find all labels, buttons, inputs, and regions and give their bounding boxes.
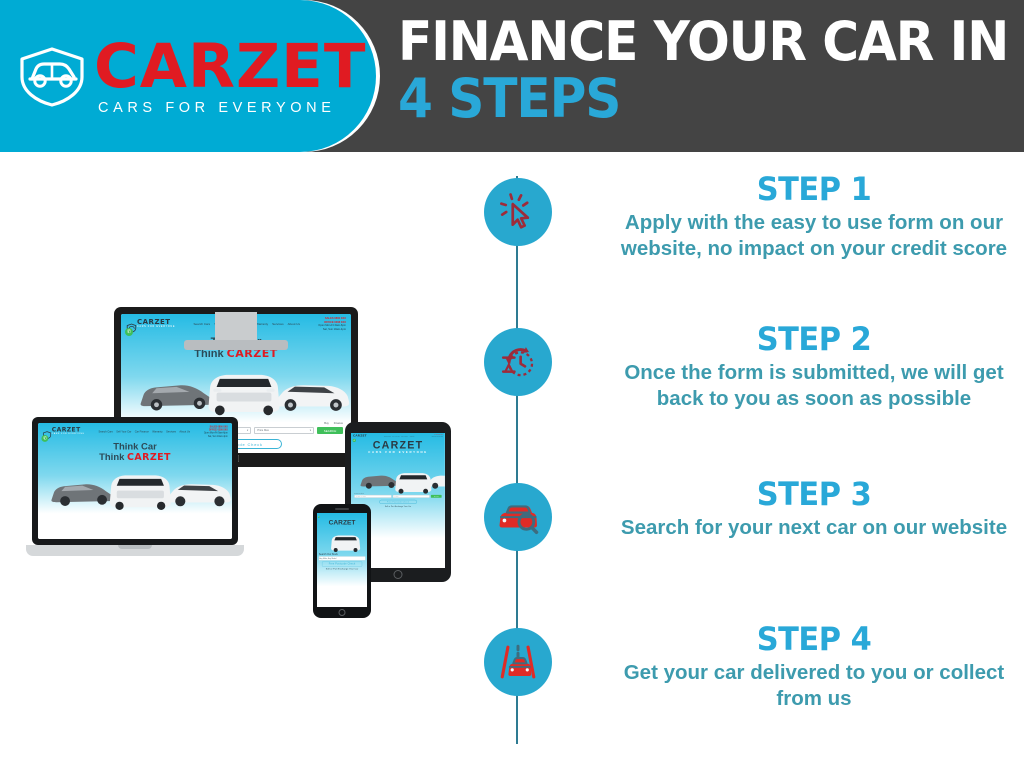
site-hours-weekday: Open Mon-Fri 9am-6pm [432,436,443,437]
step-4-badge [484,628,552,696]
site-logo: CARZET CARS FOR EVERYONE [42,428,84,436]
step-4-heading: STEP 4 [615,622,1014,657]
carzet-website-phone: ✆ CARZET Search Our Stock [317,513,367,607]
sell-part-exchange-link[interactable]: Sell or Part Exchange Your Car [317,568,367,570]
step-item: STEP 2 Once the form is submitted, we wi… [456,322,1024,413]
site-hero-accent: CARZET [127,451,171,462]
whatsapp-icon[interactable]: ✆ [353,439,356,442]
site-nav-item[interactable]: Sell Your Car [116,430,131,433]
site-hero-cars [121,362,351,416]
site-logo: CARZET [353,434,367,437]
brand-name: CARZET [94,38,366,96]
site-contact-block: SALES 0800 XXX OFFICE 0208 XXX Open Mon-… [204,426,228,438]
step-1-text: STEP 1 Apply with the easy to use form o… [604,172,1024,263]
site-logo-shield-icon [42,428,50,435]
car-white-suv [195,366,293,416]
site-nav-item[interactable]: Search Cars [194,322,211,326]
step-item: STEP 1 Apply with the easy to use form o… [456,172,1024,263]
car-in-shield-icon [14,43,90,109]
search-button[interactable]: SEARCH [431,495,442,498]
site-logo: CARZET CARS FOR EVERYONE [126,319,175,328]
car-white-suv [98,468,182,511]
steps-list: STEP 1 Apply with the easy to use form o… [456,152,1024,768]
site-logo-name: CARZET [353,434,367,437]
site-nav-item[interactable]: Warranty [410,435,415,437]
site-nav-item[interactable]: Car Finance [135,430,149,433]
step-1-heading: STEP 1 [615,172,1014,207]
laptop-mockup: ✆ CARZET [32,417,250,557]
site-logo-tagline: CARS FOR EVERYONE [137,326,175,328]
search-make-model-field[interactable]: Any Make, Any Model [319,556,366,560]
search-make-model-field[interactable]: Any Make, Any Model [354,495,391,498]
car-white-suv [389,469,438,494]
step-2-heading: STEP 2 [615,322,1014,357]
site-nav-item[interactable]: Sell Your Car [392,435,399,437]
step-1-badge [484,178,552,246]
site-hero-cars [351,455,445,492]
site-nav-item[interactable]: About Us [288,322,300,326]
monitor-stand-base [184,340,288,350]
carzet-website-laptop: ✆ CARZET [38,423,232,539]
phone-logo-name: CARZET [317,519,367,526]
step-item: STEP 3 Search for your next car on our w… [456,477,1024,541]
site-nav-item[interactable]: Search Cars [98,430,112,433]
laptop-lid: ✆ CARZET [32,417,238,545]
cursor-click-icon [497,191,539,233]
brand-panel: CARZET CARS FOR EVERYONE [0,0,376,152]
device-mockups: ✆ CARZET [0,152,470,768]
site-hero-line2: Think CARZET [38,452,232,462]
postcode-check-button[interactable]: Free Postcode Check [379,500,417,504]
site-nav-item[interactable]: Services [272,322,284,326]
site-hero: CARZET [317,519,367,526]
site-search-bar[interactable]: Any Make, Any Model Any Price SEARCH [351,495,445,498]
tablet-home-button[interactable] [394,570,403,579]
step-2-badge [484,328,552,396]
toggle-buy[interactable]: Buy [324,422,328,425]
car-search-icon [496,498,540,537]
site-nav-item[interactable]: Services [166,430,176,433]
search-button[interactable]: SEARCH [317,427,343,434]
site-hero: Think Car Think CARZET [38,442,232,463]
postcode-check-button[interactable]: Free Postcode Check [322,561,362,566]
step-2-text: STEP 2 Once the form is submitted, we wi… [604,322,1024,413]
car-white-suv [326,532,366,553]
site-hours-weekend: Sat, Sun 10am-4pm [204,435,228,438]
header-title-line1: FINANCE YOUR CAR IN [398,16,971,69]
brand-text: CARZET CARS FOR EVERYONE [94,36,366,117]
whatsapp-icon[interactable]: ✆ [125,328,133,336]
site-hours-weekend: Sat, Sun 10am-4pm [318,328,346,332]
step-4-description: Get your car delivered to you or collect… [604,660,1024,712]
step-3-badge [484,483,552,551]
header-banner: CARZET CARS FOR EVERYONE FINANCE YOUR CA… [0,0,1024,152]
site-topbar: CARZET Search Cars Sell Your Car Car Fin… [351,433,445,437]
header-title-line2: 4 STEPS [398,73,971,126]
brand-tagline: CARS FOR EVERYONE [94,100,335,116]
tablet-logo-tagline: CARS FOR EVERYONE [351,451,445,454]
tablet-logo-name: CARZET [351,439,445,451]
site-nav-item[interactable]: Car Finance [401,435,408,437]
step-3-text: STEP 3 Search for your next car on our w… [604,477,1024,541]
search-price-max-field[interactable]: Price Max▾ [254,427,314,434]
site-nav-item[interactable]: Search Cars [384,435,391,437]
site-hero-cars [38,464,232,510]
site-nav-item[interactable]: Warranty [256,322,268,326]
step-item: STEP 4 Get your car delivered to you or … [456,622,1024,713]
laptop-trackpad-notch [118,545,152,549]
phone-screen: ✆ CARZET Search Our Stock [317,513,367,607]
step-2-description: Once the form is submitted, we will get … [604,360,1024,412]
page-title: FINANCE YOUR CAR IN 4 STEPS [398,16,1014,126]
phone-speaker [335,508,349,510]
infographic-page: CARZET CARS FOR EVERYONE FINANCE YOUR CA… [0,0,1024,768]
site-search-bar[interactable]: Any Make, Any Model [317,556,367,560]
site-hours-weekday: Open Mon-Fri 9am-6pm [318,324,346,328]
site-contact-block: SALES 0800 XXX OFFICE 0208 XXX Open Mon-… [318,317,346,331]
site-topbar: CARZET CARS FOR EVERYONE Search Cars Sel… [38,423,232,438]
smartphone-mockup: ✆ CARZET Search Our Stock [313,504,371,618]
site-nav-item[interactable]: Warranty [152,430,162,433]
site-logo-tagline: CARS FOR EVERYONE [52,434,85,436]
monitor-stand-neck [215,312,257,340]
site-nav[interactable]: Search Cars Sell Your Car Car Finance Wa… [384,435,415,437]
site-nav[interactable]: Search Cars Sell Your Car Car Finance Wa… [98,430,190,433]
body-area: ✆ CARZET [0,152,1024,768]
site-logo-shield-icon [126,320,135,328]
site-hero-cars [317,526,367,552]
laptop-base [26,545,244,556]
step-4-text: STEP 4 Get your car delivered to you or … [604,622,1024,713]
step-3-heading: STEP 3 [615,477,1014,512]
toggle-finance[interactable]: Finance [334,422,343,425]
chevron-down-icon: ▾ [310,429,311,432]
site-contact-block: SALES 0800 XXX Open Mon-Fri 9am-6pm [432,434,443,437]
whatsapp-icon[interactable]: ✆ [318,516,320,518]
search-price-field[interactable]: Any Price [393,495,430,498]
laptop-screen: ✆ CARZET [38,423,232,539]
phone-home-button[interactable] [339,609,346,616]
whatsapp-icon[interactable]: ✆ [41,435,48,442]
clock-hourglass-icon [497,341,539,383]
step-1-description: Apply with the easy to use form on our w… [604,210,1024,262]
car-road-delivery-icon [497,641,539,683]
site-nav-item[interactable]: About Us [179,430,190,433]
site-hero: CARZET CARS FOR EVERYONE [351,439,445,454]
step-3-description: Search for your next car on our website [604,515,1024,541]
